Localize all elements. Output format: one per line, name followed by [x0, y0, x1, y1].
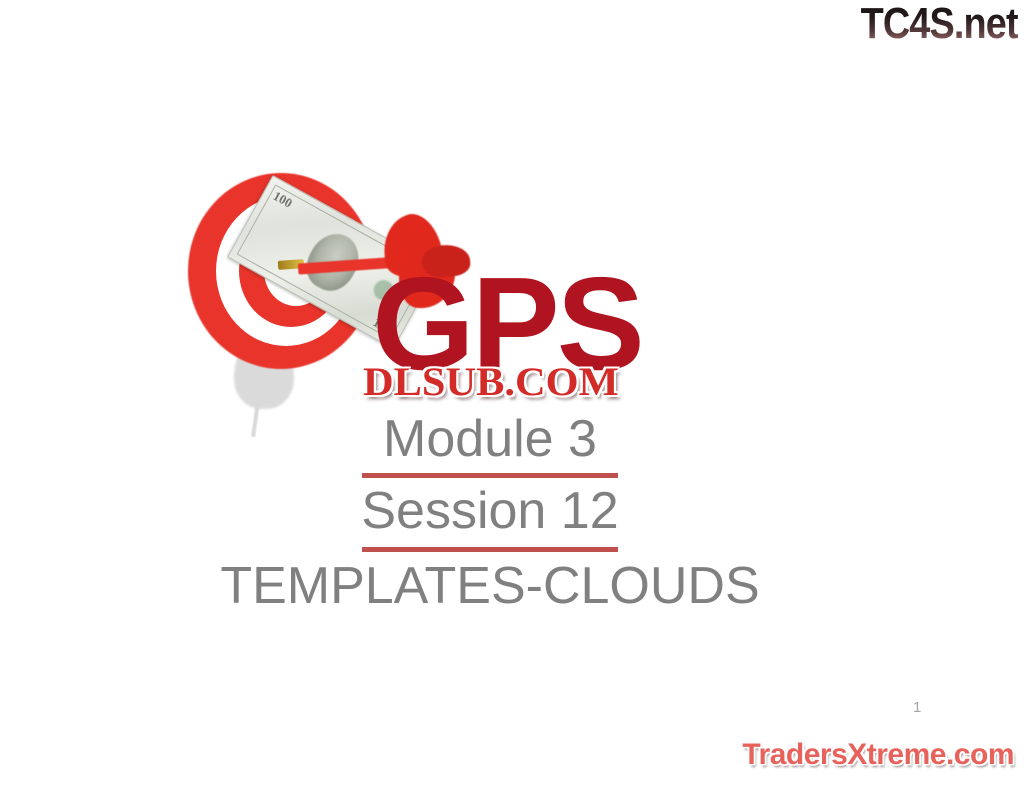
subtitle-module: Module 3	[180, 412, 800, 466]
dlsub-watermark: DLSUB.COM	[363, 362, 619, 402]
presentation-slide: TC4S.net 100 100 GPS DLSUB.COM Module 3 …	[0, 0, 1024, 791]
subtitle-divider-2	[362, 547, 618, 552]
tc4s-brand-logo: TC4S.net	[861, 2, 1018, 46]
subtitle-block: Module 3 Session 12 TEMPLATES-CLOUDS	[180, 412, 800, 613]
bill-denomination-top-left: 100	[270, 188, 295, 211]
page-number: 1	[913, 699, 921, 716]
subtitle-session: Session 12	[180, 484, 800, 538]
subtitle-topic: TEMPLATES-CLOUDS	[180, 559, 800, 613]
subtitle-divider-1	[362, 473, 618, 478]
tradersxtreme-watermark: TradersXtreme.com	[742, 740, 1014, 770]
